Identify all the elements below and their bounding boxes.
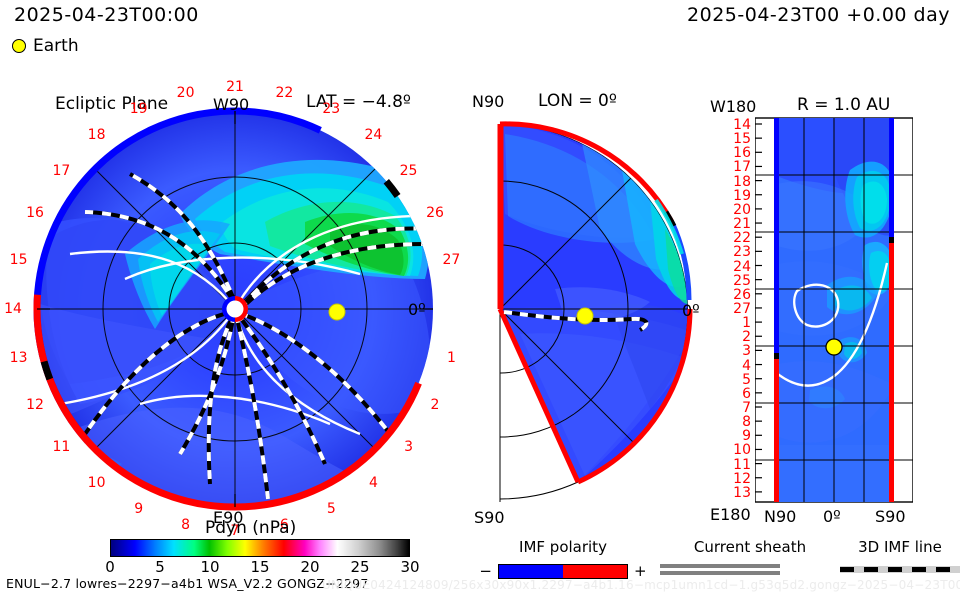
ecliptic-tick-23: 23 [322,101,340,117]
imf-positive-swatch [563,565,627,578]
pdyn-colorbar [110,539,410,557]
imf-polarity-swatch [498,564,628,579]
meridional-n90-label: N90 [472,92,504,111]
ecliptic-panel-title: Ecliptic Plane [55,94,168,114]
colorbar-tick: 10 [200,558,219,576]
colorbar-gradient [110,539,410,557]
ecliptic-tick-11: 11 [53,439,71,455]
ecliptic-tick-10: 10 [88,475,106,491]
earth-position-marker [329,304,345,320]
imf-polarity-legend: IMF polarity − + [468,538,658,580]
ecliptic-tick-4: 4 [369,475,378,491]
earth-legend-label: Earth [33,36,79,56]
ecliptic-tick-5: 5 [327,501,336,517]
meridional-zero-label: 0º [682,301,700,320]
earth-legend: Earth [12,36,79,56]
colorbar-tick: 15 [250,558,269,576]
ecliptic-tick-2: 2 [431,397,440,413]
frame-offset-label: 2025-04-23T00 +0.00 day [687,4,950,26]
ecliptic-tick-15: 15 [10,252,28,268]
ecliptic-tick-12: 12 [26,397,44,413]
imf-line-legend: 3D IMF line [840,538,960,573]
ecliptic-tick-16: 16 [26,205,44,221]
imf-negative-swatch [499,565,563,578]
colorbar-tick: 25 [350,558,369,576]
radial-panel-title: R = 1.0 AU [797,95,890,115]
radial-e180-label: E180 [710,505,751,524]
ecliptic-tick-9: 9 [134,501,143,517]
ecliptic-zero-label: 0º [408,300,426,319]
ecliptic-tick-3: 3 [404,439,413,455]
ecliptic-plane-panel: Ecliptic Plane W90 E90 0º LAT = −4.8º 27… [30,104,440,514]
radial-xtick-s90: S90 [875,507,906,526]
current-sheath-title: Current sheath [660,538,840,556]
meridional-plane-panel: N90 LON = 0º S90 0º [460,104,700,514]
ecliptic-tick-26: 26 [426,205,444,221]
ecliptic-tick-13: 13 [10,350,28,366]
ecliptic-tick-27: 27 [443,252,461,268]
colorbar-tick: 5 [155,558,165,576]
ecliptic-tick-25: 25 [400,163,418,179]
colorbar-tick-labels: 051015202530 [110,558,410,578]
ecliptic-tick-19: 19 [130,101,148,117]
radial-xtick-zero: 0º [823,507,841,526]
ecliptic-tick-24: 24 [364,127,382,143]
current-sheath-swatch [660,564,780,575]
earth-position-marker-radial [826,339,842,355]
meridional-s90-label: S90 [474,508,505,527]
imf-line-title: 3D IMF line [840,538,960,556]
ecliptic-tick-7: 7 [231,523,240,539]
radial-shell-panel: W180 R = 1.0 AU E180 1415161718192021222… [755,115,913,505]
model-info-footer: ENUL−2.7 lowres−2297−a4b1 WSA_V2.2 GONGZ… [6,576,368,591]
colorbar-tick: 0 [105,558,115,576]
ecliptic-plot-svg [30,104,440,514]
ecliptic-tick-18: 18 [88,127,106,143]
ecliptic-tick-14: 14 [4,301,22,317]
current-sheath-legend: Current sheath [660,538,840,578]
timestamp-label: 2025-04-23T00:00 [14,4,199,26]
radial-w180-label: W180 [710,97,756,116]
radial-tick-13: 13 [725,485,751,501]
imf-line-swatch [840,566,960,573]
run-id-footer: UNIQUE0424124809/256x30x90x1.2297−a4b1.1… [322,578,960,592]
earth-marker-icon [12,39,26,53]
ecliptic-tick-22: 22 [275,85,293,101]
sun-marker-icon [222,296,248,322]
ecliptic-tick-20: 20 [177,85,195,101]
ecliptic-tick-21: 21 [226,79,244,95]
ecliptic-tick-6: 6 [280,517,289,533]
ecliptic-tick-1: 1 [447,350,456,366]
imf-polarity-title: IMF polarity [468,538,658,556]
ecliptic-w90-label: W90 [213,95,249,114]
radial-plot-svg [755,115,913,505]
meridional-panel-title: LON = 0º [538,91,617,111]
ecliptic-tick-8: 8 [181,517,190,533]
colorbar-tick: 20 [300,558,319,576]
ecliptic-tick-17: 17 [53,163,71,179]
meridional-plot-svg [460,104,700,514]
earth-position-marker-meridional [577,308,593,324]
colorbar-tick: 30 [400,558,419,576]
radial-xtick-n90: N90 [764,507,796,526]
